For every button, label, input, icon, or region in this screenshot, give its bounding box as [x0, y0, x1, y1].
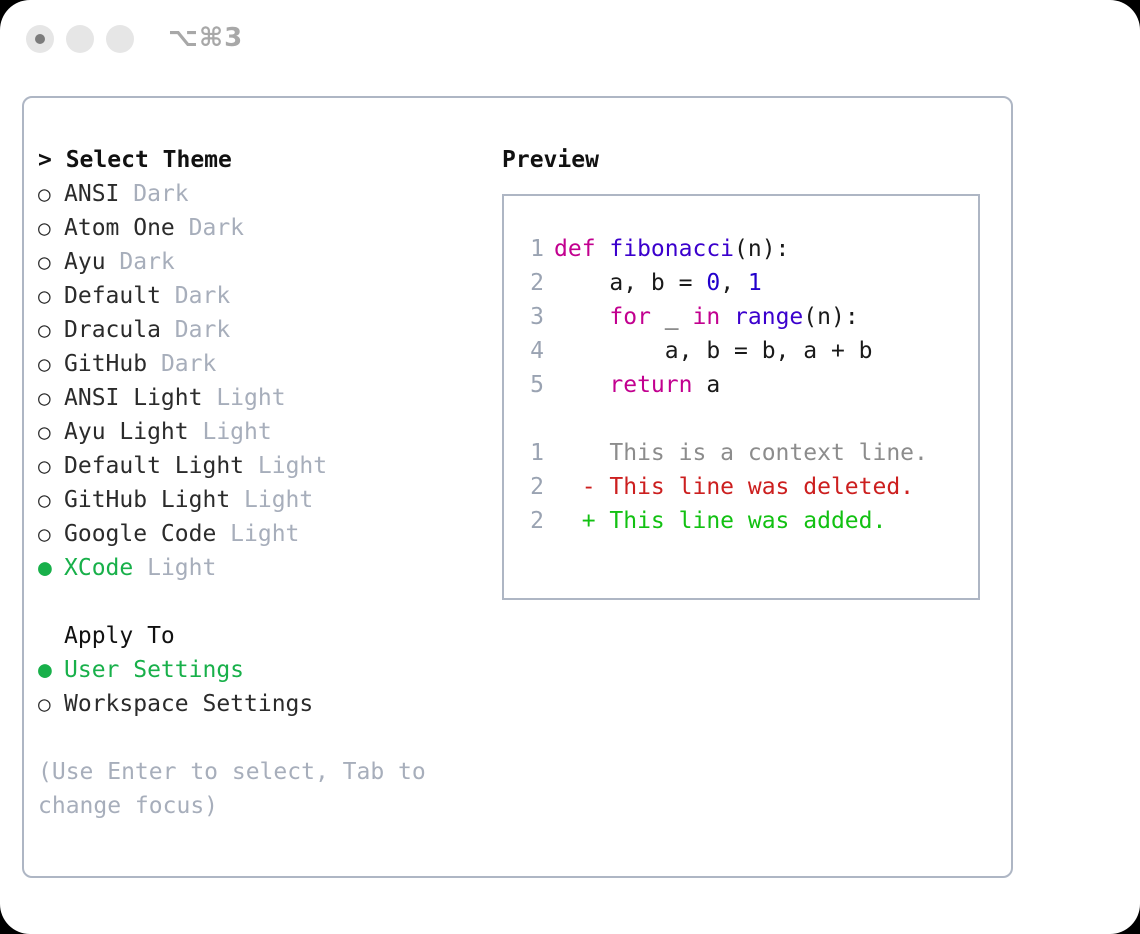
code-token: _ [651, 304, 693, 330]
theme-option-dracula[interactable]: ○Dracula Dark [38, 313, 488, 347]
diff-sample: 1 This is a context line.2 - This line w… [518, 436, 972, 538]
close-dot[interactable] [26, 25, 54, 53]
theme-list-column: > Select Theme ○ANSI Dark○Atom One Dark○… [38, 143, 488, 823]
code-token: range [734, 304, 803, 330]
theme-option-label: GitHub [64, 351, 161, 377]
theme-option-default-light[interactable]: ○Default Light Light [38, 449, 488, 483]
diff-line-text: - This line was deleted. [554, 474, 914, 500]
radio-unselected-icon: ○ [38, 211, 64, 245]
theme-option-atom-one[interactable]: ○Atom One Dark [38, 211, 488, 245]
preview-column: Preview 1def fibonacci(n):2 a, b = 0, 13… [502, 143, 1002, 600]
theme-option-google-code[interactable]: ○Google Code Light [38, 517, 488, 551]
code-token: , [720, 270, 748, 296]
theme-option-label: Dracula [64, 317, 175, 343]
prompt-caret: > [38, 147, 66, 173]
code-line: 1def fibonacci(n): [518, 232, 972, 266]
apply-to-option-label: User Settings [64, 657, 244, 683]
theme-option-label: GitHub Light [64, 487, 244, 513]
apply-to-option-list: ●User Settings○Workspace Settings [38, 653, 488, 721]
theme-option-kind: Dark [133, 181, 188, 207]
select-theme-header: > Select Theme [38, 143, 488, 177]
code-token: for [609, 304, 651, 330]
code-line-number: 3 [518, 300, 544, 334]
theme-option-kind: Dark [175, 317, 230, 343]
code-token: in [692, 304, 720, 330]
diff-line: 2 - This line was deleted. [518, 470, 972, 504]
theme-option-kind: Light [244, 487, 313, 513]
theme-option-label: Default [64, 283, 175, 309]
theme-option-label: XCode [64, 555, 147, 581]
code-sample: 1def fibonacci(n):2 a, b = 0, 13 for _ i… [518, 232, 972, 538]
code-token: a, b = [554, 270, 706, 296]
keyboard-hint-text: (Use Enter to select, Tab to change focu… [38, 755, 458, 823]
radio-unselected-icon: ○ [38, 381, 64, 415]
apply-to-section: Apply To ●User Settings○Workspace Settin… [38, 619, 488, 721]
code-token: (n): [803, 304, 858, 330]
radio-unselected-icon: ○ [38, 517, 64, 551]
theme-option-label: Ayu Light [64, 419, 202, 445]
code-token: 0 [706, 270, 720, 296]
code-token: fibonacci [609, 236, 734, 262]
code-line-number: 4 [518, 334, 544, 368]
radio-selected-icon: ● [38, 653, 64, 687]
theme-option-kind: Light [147, 555, 216, 581]
code-token [554, 372, 609, 398]
theme-option-label: ANSI [64, 181, 133, 207]
code-token: a [692, 372, 720, 398]
apply-to-header: Apply To [38, 619, 488, 653]
theme-option-kind: Light [258, 453, 327, 479]
code-line-number: 1 [518, 232, 544, 266]
diff-line: 2 + This line was added. [518, 504, 972, 538]
radio-selected-icon: ● [38, 551, 64, 585]
theme-option-github-light[interactable]: ○GitHub Light Light [38, 483, 488, 517]
theme-option-kind: Light [202, 419, 271, 445]
theme-option-label: Google Code [64, 521, 230, 547]
theme-option-kind: Light [216, 385, 285, 411]
diff-line-number: 1 [518, 436, 544, 470]
theme-option-ayu[interactable]: ○Ayu Dark [38, 245, 488, 279]
theme-option-xcode[interactable]: ●XCode Light [38, 551, 488, 585]
code-token: 1 [748, 270, 762, 296]
theme-option-ayu-light[interactable]: ○Ayu Light Light [38, 415, 488, 449]
radio-unselected-icon: ○ [38, 483, 64, 517]
select-theme-title: Select Theme [66, 147, 232, 173]
code-line: 5 return a [518, 368, 972, 402]
theme-option-kind: Dark [189, 215, 244, 241]
radio-unselected-icon: ○ [38, 177, 64, 211]
diff-line-number: 2 [518, 504, 544, 538]
code-line: 4 a, b = b, a + b [518, 334, 972, 368]
theme-option-label: ANSI Light [64, 385, 216, 411]
radio-unselected-icon: ○ [38, 313, 64, 347]
theme-option-kind: Light [230, 521, 299, 547]
theme-option-label: Atom One [64, 215, 189, 241]
theme-option-list: ○ANSI Dark○Atom One Dark○Ayu Dark○Defaul… [38, 177, 488, 585]
minimize-dot[interactable] [66, 25, 94, 53]
code-token: return [609, 372, 692, 398]
diff-line-number: 2 [518, 470, 544, 504]
diff-line-text: + This line was added. [554, 508, 886, 534]
apply-to-option-user-settings[interactable]: ●User Settings [38, 653, 488, 687]
theme-option-label: Default Light [64, 453, 258, 479]
theme-option-github[interactable]: ○GitHub Dark [38, 347, 488, 381]
theme-option-ansi-light[interactable]: ○ANSI Light Light [38, 381, 488, 415]
radio-unselected-icon: ○ [38, 279, 64, 313]
title-bar: ⌥⌘3 [0, 0, 1140, 78]
code-line: 2 a, b = 0, 1 [518, 266, 972, 300]
radio-unselected-icon: ○ [38, 245, 64, 279]
preview-box: 1def fibonacci(n):2 a, b = 0, 13 for _ i… [502, 194, 980, 600]
theme-option-label: Ayu [64, 249, 119, 275]
radio-unselected-icon: ○ [38, 687, 64, 721]
radio-unselected-icon: ○ [38, 347, 64, 381]
code-token [554, 304, 609, 330]
preview-title: Preview [502, 143, 1002, 177]
code-token: def [554, 236, 609, 262]
maximize-dot[interactable] [106, 25, 134, 53]
apply-to-option-label: Workspace Settings [64, 691, 313, 717]
code-line-number: 5 [518, 368, 544, 402]
code-line: 3 for _ in range(n): [518, 300, 972, 334]
diff-line: 1 This is a context line. [518, 436, 972, 470]
theme-option-default[interactable]: ○Default Dark [38, 279, 488, 313]
app-window: ⌥⌘3 > Select Theme ○ANSI Dark○Atom One D… [0, 0, 1140, 934]
diff-line-text: This is a context line. [554, 440, 928, 466]
theme-option-kind: Dark [161, 351, 216, 377]
theme-option-kind: Dark [119, 249, 174, 275]
theme-option-kind: Dark [175, 283, 230, 309]
theme-picker-panel: > Select Theme ○ANSI Dark○Atom One Dark○… [22, 96, 1013, 878]
code-line-number: 2 [518, 266, 544, 300]
code-token: a, b = b, a + b [554, 338, 873, 364]
code-token: (n): [734, 236, 789, 262]
radio-unselected-icon: ○ [38, 449, 64, 483]
keyboard-shortcut-label: ⌥⌘3 [168, 23, 243, 53]
theme-option-ansi[interactable]: ○ANSI Dark [38, 177, 488, 211]
apply-to-option-workspace-settings[interactable]: ○Workspace Settings [38, 687, 488, 721]
code-token [720, 304, 734, 330]
radio-unselected-icon: ○ [38, 415, 64, 449]
